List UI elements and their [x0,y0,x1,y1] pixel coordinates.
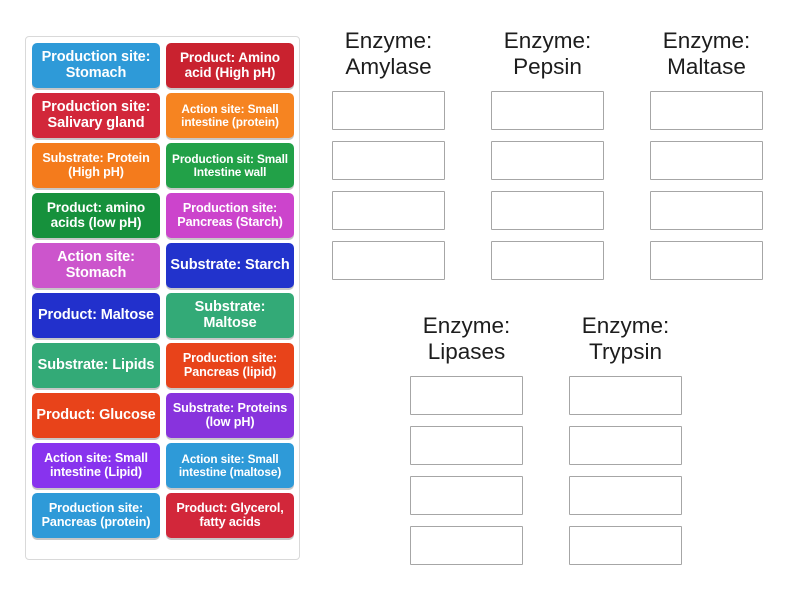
enzyme-column: Enzyme: Lipases [410,313,523,576]
answer-dropzone[interactable] [410,476,523,515]
enzyme-column-title: Enzyme: Pepsin [491,28,604,80]
answer-dropzone[interactable] [650,141,763,180]
answer-dropzone[interactable] [332,141,445,180]
answer-tile[interactable]: Production sit: Small Intestine wall [166,143,294,188]
enzyme-column-title: Enzyme: Lipases [410,313,523,365]
answer-tile-label: Substrate: Lipids [35,358,157,374]
answer-tile[interactable]: Product: Glucose [32,393,160,438]
answer-tile[interactable]: Product: Maltose [32,293,160,338]
answer-dropzone[interactable] [491,191,604,230]
answer-tile[interactable]: Production site: Salivary gland [32,93,160,138]
enzyme-column-title: Enzyme: Amylase [332,28,445,80]
answer-tile-label: Action site: Small intestine (maltose) [169,453,291,478]
answer-tile-label: Substrate: Proteins (low pH) [169,402,291,429]
answer-tile[interactable]: Production site: Pancreas (Starch) [166,193,294,238]
answer-dropzone[interactable] [491,91,604,130]
enzyme-column-title: Enzyme: Trypsin [569,313,682,365]
answer-dropzone[interactable] [332,241,445,280]
answer-tile-label: Action site: Small intestine (Lipid) [35,452,157,479]
answer-tile[interactable]: Production site: Pancreas (lipid) [166,343,294,388]
answer-tile-label: Production site: Pancreas (Starch) [169,202,291,229]
answer-dropzone[interactable] [569,376,682,415]
answer-tile[interactable]: Action site: Small intestine (maltose) [166,443,294,488]
answer-dropzone[interactable] [332,191,445,230]
answer-dropzone[interactable] [410,376,523,415]
enzyme-column: Enzyme: Amylase [332,28,445,291]
answer-tile[interactable]: Substrate: Maltose [166,293,294,338]
answer-tile[interactable]: Substrate: Starch [166,243,294,288]
answer-dropzone[interactable] [410,526,523,565]
answer-tile-label: Production site: Stomach [35,50,157,81]
answer-area: Enzyme: AmylaseEnzyme: PepsinEnzyme: Mal… [316,28,786,568]
answer-dropzone[interactable] [332,91,445,130]
answer-tile-label: Production site: Salivary gland [35,100,157,131]
answer-dropzone[interactable] [569,476,682,515]
answer-tile-label: Action site: Small intestine (protein) [169,103,291,128]
enzyme-column-title: Enzyme: Maltase [650,28,763,80]
answer-tile-label: Substrate: Starch [169,258,291,274]
answer-dropzone[interactable] [491,141,604,180]
answer-tile-label: Product: Glycerol, fatty acids [169,502,291,529]
answer-tile-label: Product: Maltose [35,308,157,324]
answer-tile-label: Product: amino acids (low pH) [35,201,157,230]
answer-tile-label: Substrate: Protein (High pH) [35,152,157,179]
answer-dropzone[interactable] [569,526,682,565]
answer-tile-label: Product: Amino acid (High pH) [169,51,291,80]
answer-tile[interactable]: Substrate: Proteins (low pH) [166,393,294,438]
answer-tile-label: Production site: Pancreas (protein) [35,502,157,529]
answer-tile[interactable]: Production site: Pancreas (protein) [32,493,160,538]
answer-tile-label: Substrate: Maltose [169,300,291,331]
tile-pool: Production site: StomachProduct: Amino a… [25,36,300,560]
enzyme-column: Enzyme: Pepsin [491,28,604,291]
answer-tile[interactable]: Production site: Stomach [32,43,160,88]
answer-dropzone[interactable] [569,426,682,465]
answer-tile-label: Product: Glucose [35,408,157,424]
tile-grid: Production site: StomachProduct: Amino a… [32,43,293,538]
answer-tile-label: Production site: Pancreas (lipid) [169,352,291,379]
answer-tile[interactable]: Substrate: Protein (High pH) [32,143,160,188]
answer-tile[interactable]: Action site: Stomach [32,243,160,288]
answer-tile[interactable]: Action site: Small intestine (Lipid) [32,443,160,488]
enzyme-column: Enzyme: Trypsin [569,313,682,576]
answer-tile[interactable]: Product: Glycerol, fatty acids [166,493,294,538]
answer-tile-label: Action site: Stomach [35,250,157,281]
answer-dropzone[interactable] [650,241,763,280]
answer-dropzone[interactable] [650,191,763,230]
answer-tile[interactable]: Substrate: Lipids [32,343,160,388]
enzyme-row-bottom: Enzyme: LipasesEnzyme: Trypsin [410,313,786,576]
answer-tile[interactable]: Product: Amino acid (High pH) [166,43,294,88]
answer-tile[interactable]: Product: amino acids (low pH) [32,193,160,238]
answer-tile[interactable]: Action site: Small intestine (protein) [166,93,294,138]
answer-tile-label: Production sit: Small Intestine wall [169,153,291,178]
enzyme-row-top: Enzyme: AmylaseEnzyme: PepsinEnzyme: Mal… [332,28,786,291]
answer-dropzone[interactable] [491,241,604,280]
answer-dropzone[interactable] [410,426,523,465]
enzyme-column: Enzyme: Maltase [650,28,763,291]
answer-dropzone[interactable] [650,91,763,130]
